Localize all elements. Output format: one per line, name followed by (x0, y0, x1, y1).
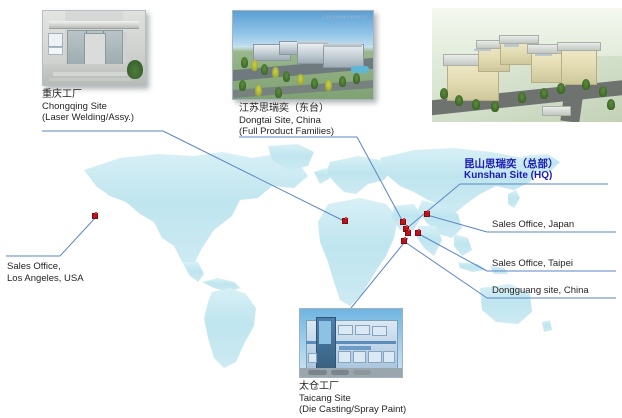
marker-chongqing (342, 218, 347, 223)
taipei-label-text: Sales Office, Taipei (492, 258, 573, 270)
label-kunshan-hq: 昆山思瑞奕（总部） Kunshan Site (HQ) (464, 158, 559, 182)
label-sales-office-los-angeles: Sales Office, Los Angeles, USA (7, 261, 84, 284)
chongqing-name-cn: 重庆工厂 (42, 89, 134, 101)
dongtai-detail: (Full Product Families) (239, 126, 334, 138)
los-angeles-line2: Los Angeles, USA (7, 273, 84, 285)
marker-dongtai (400, 219, 405, 224)
dongtai-leader (357, 137, 403, 222)
marker-dongguang (401, 238, 406, 243)
marker-taipei (415, 230, 420, 235)
photo-chongqing-site (42, 10, 146, 86)
marker-taicang (405, 230, 410, 235)
chongqing-leader (163, 131, 344, 221)
dongguang-label-text: Dongguang site, China (492, 285, 589, 297)
los-angeles-leader (60, 217, 96, 256)
label-chongqing: 重庆工厂 Chongqing Site (Laser Welding/Assy.… (42, 89, 134, 124)
taipei-leader (419, 234, 487, 271)
site-map-slide: 重庆工厂 Chongqing Site (Laser Welding/Assy.… (0, 0, 622, 418)
label-sales-office-taipei: Sales Office, Taipei (492, 258, 573, 270)
taicang-leader (351, 238, 408, 308)
photo-taicang-site (299, 308, 403, 378)
chongqing-name-en: Chongqing Site (42, 101, 134, 113)
chongqing-detail: (Laser Welding/Assy.) (42, 112, 134, 124)
japan-label-text: Sales Office, Japan (492, 219, 574, 231)
photo-dongtai-site: 江苏思瑞奕机电科技有限公司 (232, 10, 374, 100)
photo-kunshan-hq (432, 8, 622, 122)
label-dongguang-site: Dongguang site, China (492, 285, 589, 297)
dongguang-leader (405, 242, 487, 298)
label-sales-office-japan: Sales Office, Japan (492, 219, 574, 231)
kunshan-name-cn: 昆山思瑞奕（总部） (464, 158, 559, 170)
taicang-detail: (Die Casting/Spray Paint) (299, 404, 406, 416)
dongtai-name-cn: 江苏思瑞奕（东台） (239, 103, 334, 115)
taicang-name-en: Taicang Site (299, 393, 406, 405)
kunshan-name-en: Kunshan Site (HQ) (464, 170, 559, 182)
dongtai-name-en: Dongtai Site, China (239, 115, 334, 127)
taicang-name-cn: 太仓工厂 (299, 381, 406, 393)
label-dongtai: 江苏思瑞奕（东台） Dongtai Site, China (Full Prod… (239, 103, 334, 138)
los-angeles-line1: Sales Office, (7, 261, 84, 273)
marker-los-angeles (92, 213, 97, 218)
label-taicang: 太仓工厂 Taicang Site (Die Casting/Spray Pai… (299, 381, 406, 416)
marker-japan (424, 211, 429, 216)
japan-leader (427, 215, 487, 232)
